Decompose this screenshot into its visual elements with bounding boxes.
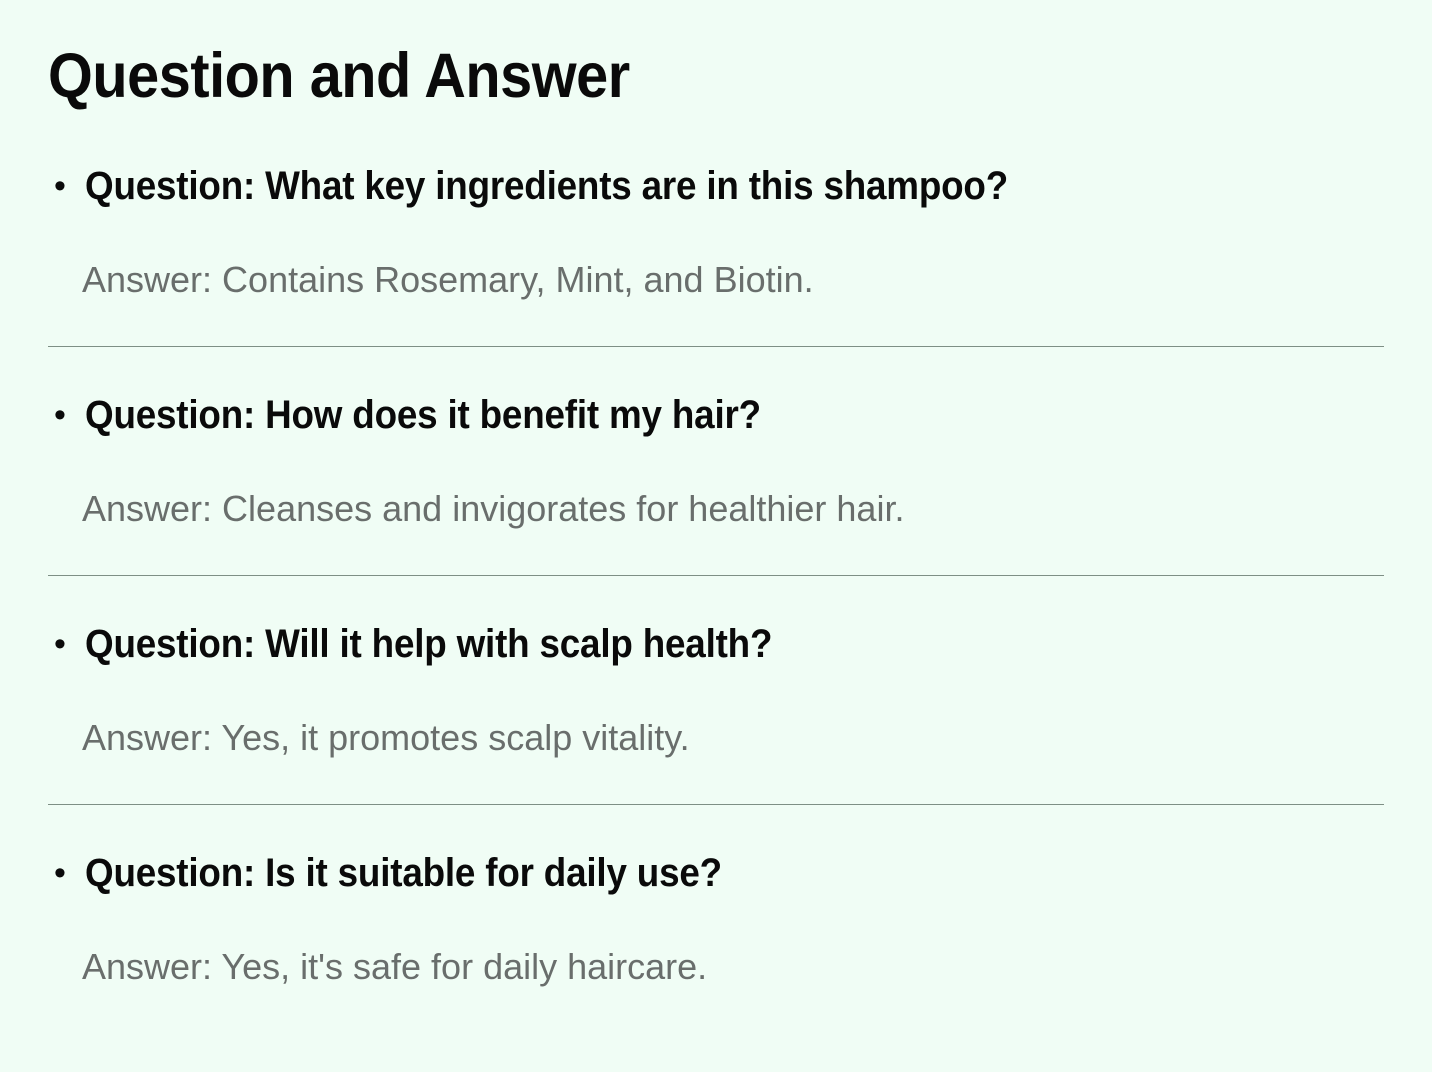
divider <box>48 575 1384 576</box>
qa-page: Question and Answer • Question: What key… <box>0 0 1432 1072</box>
bullet-icon: • <box>54 389 85 441</box>
qa-question-row: • Question: What key ingredients are in … <box>48 160 1384 212</box>
qa-question-text: Question: Will it help with scalp health… <box>85 618 1280 670</box>
list-item: • Question: Is it suitable for daily use… <box>48 847 1384 991</box>
qa-question-text: Question: What key ingredients are in th… <box>85 160 1280 212</box>
bullet-icon: • <box>54 160 85 212</box>
list-item: • Question: What key ingredients are in … <box>48 160 1384 347</box>
qa-question-text: Question: How does it benefit my hair? <box>85 389 1280 441</box>
qa-list: • Question: What key ingredients are in … <box>48 160 1384 991</box>
qa-answer-text: Answer: Yes, it promotes scalp vitality. <box>48 714 1384 762</box>
divider <box>48 346 1384 347</box>
bullet-icon: • <box>54 847 85 899</box>
qa-answer-text: Answer: Yes, it's safe for daily haircar… <box>48 943 1384 991</box>
qa-question-row: • Question: Will it help with scalp heal… <box>48 618 1384 670</box>
qa-answer-text: Answer: Cleanses and invigorates for hea… <box>48 485 1384 533</box>
bullet-icon: • <box>54 618 85 670</box>
list-item: • Question: Will it help with scalp heal… <box>48 618 1384 805</box>
qa-question-text: Question: Is it suitable for daily use? <box>85 847 1280 899</box>
page-title: Question and Answer <box>48 0 1270 108</box>
qa-question-row: • Question: Is it suitable for daily use… <box>48 847 1384 899</box>
qa-answer-text: Answer: Contains Rosemary, Mint, and Bio… <box>48 256 1384 304</box>
qa-question-row: • Question: How does it benefit my hair? <box>48 389 1384 441</box>
divider <box>48 804 1384 805</box>
list-item: • Question: How does it benefit my hair?… <box>48 389 1384 576</box>
